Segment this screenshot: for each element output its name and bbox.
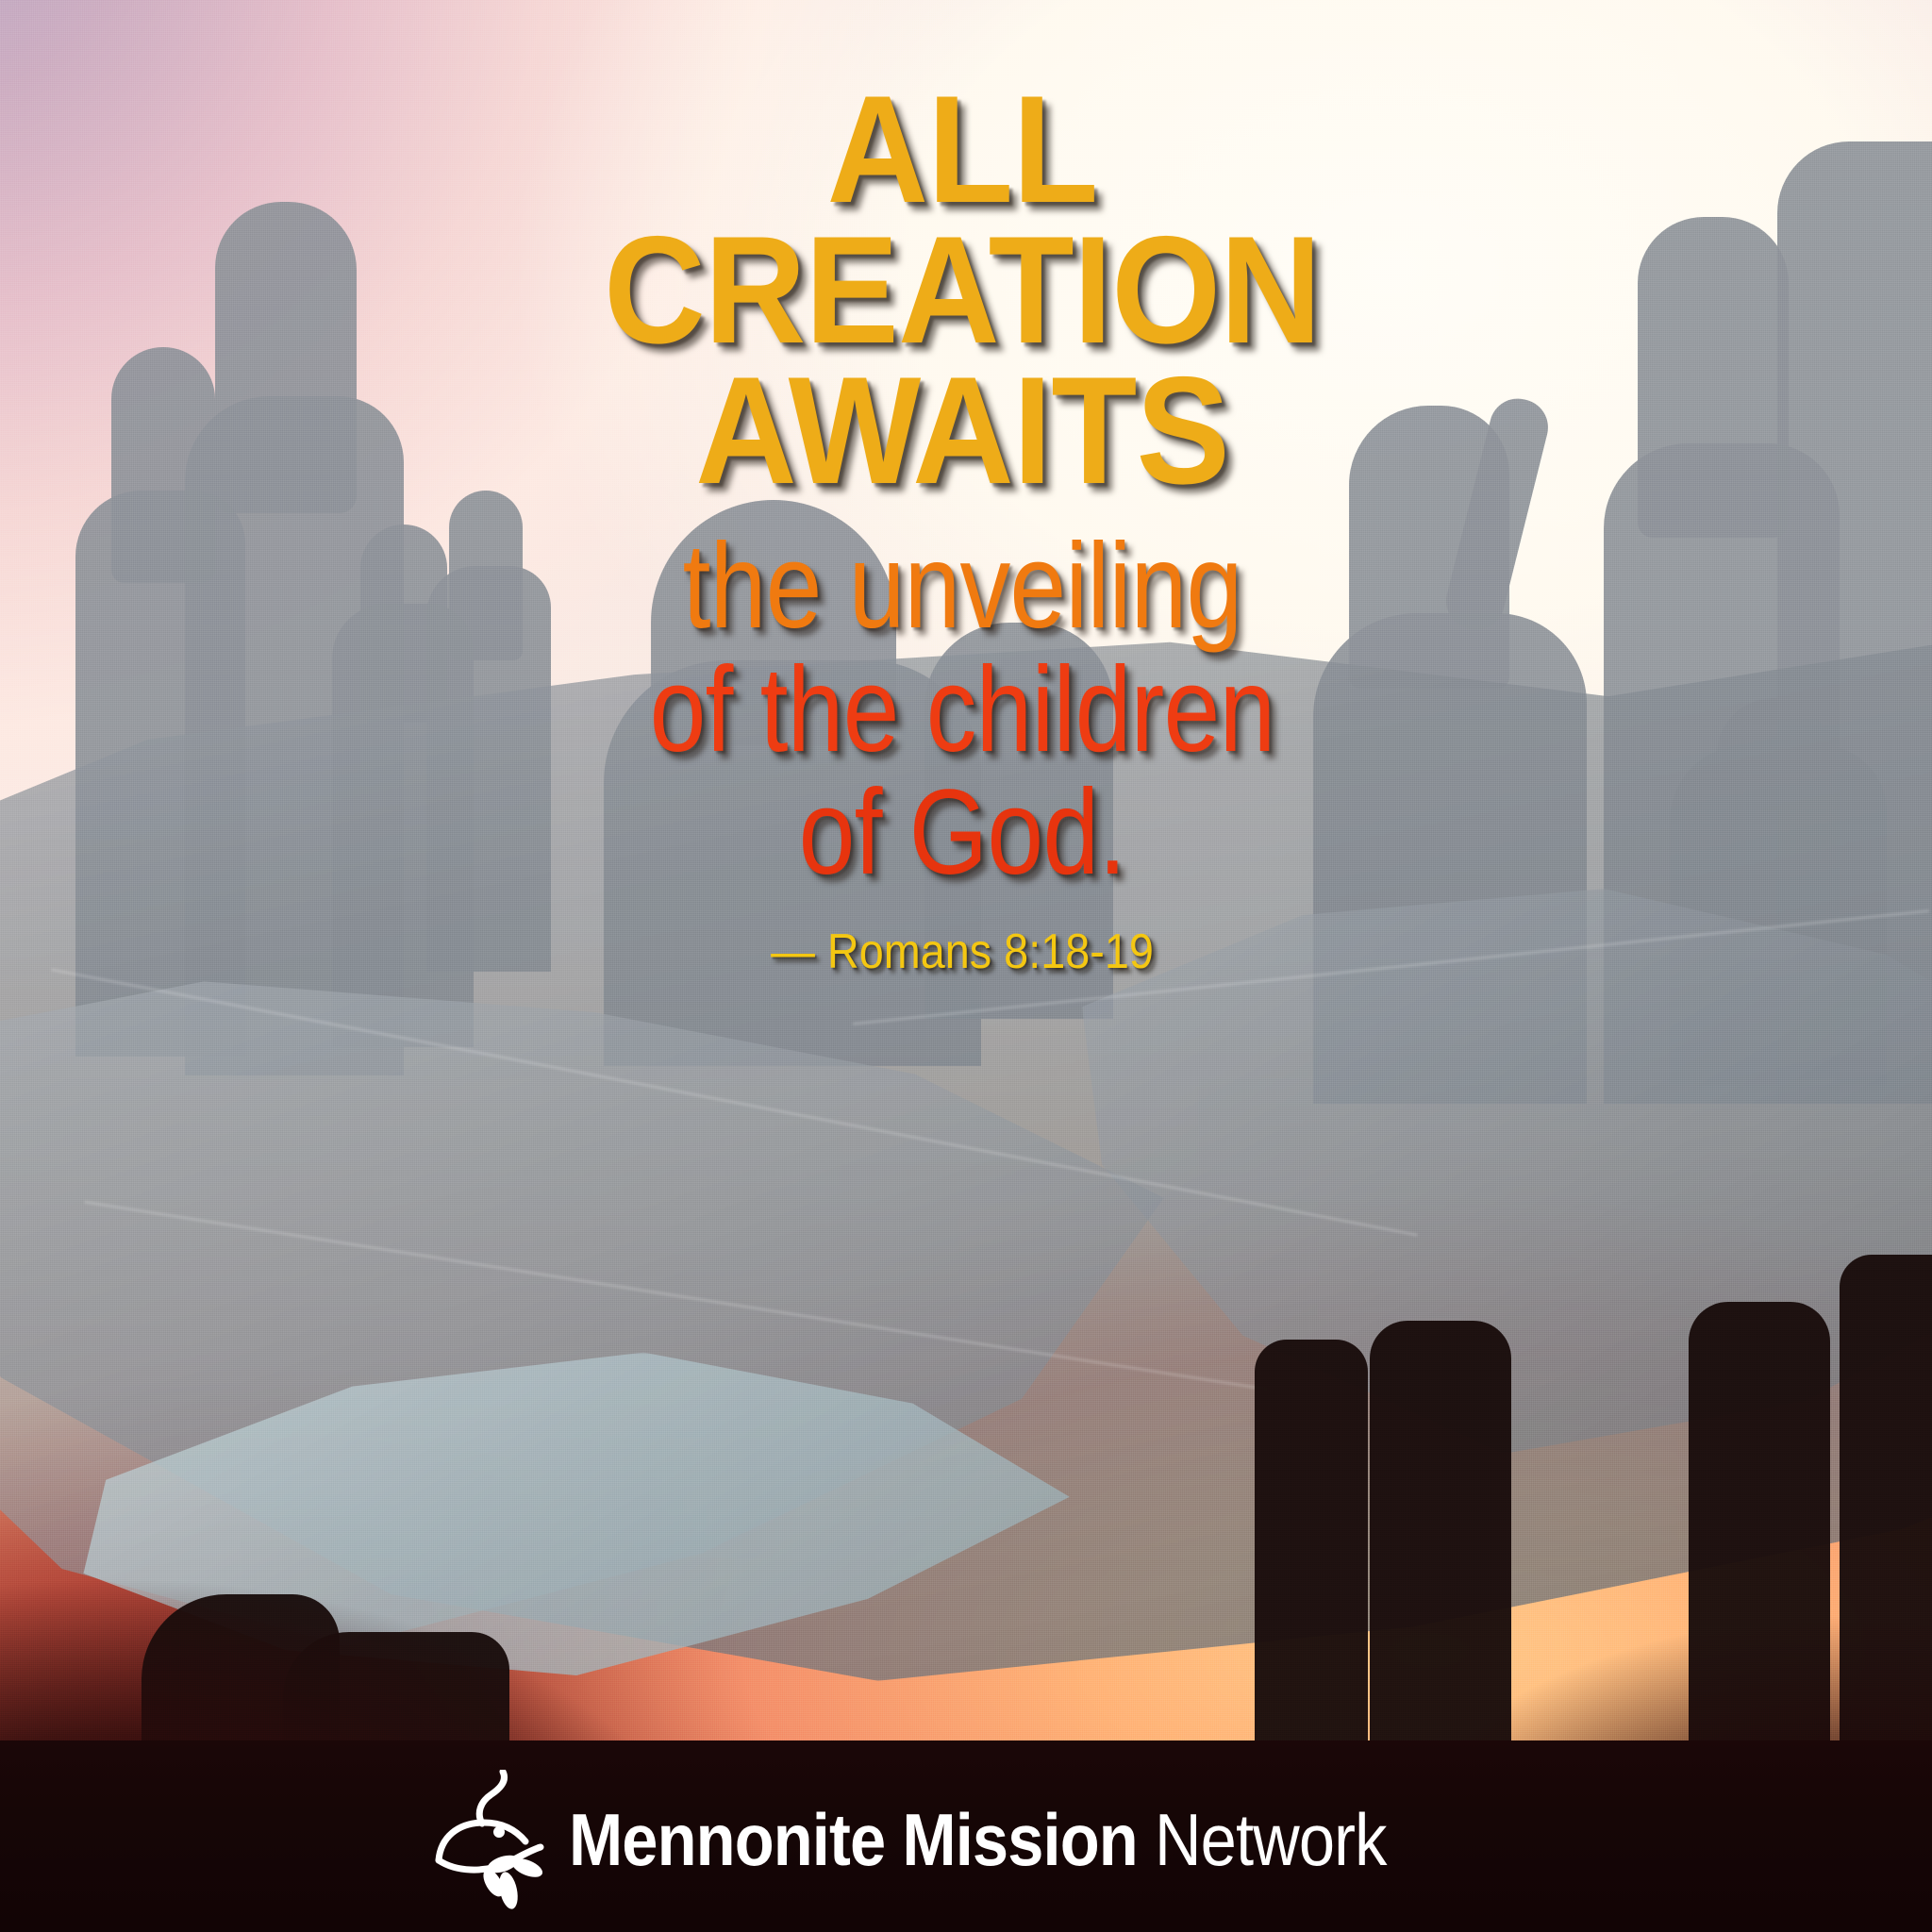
verse-text-block: ALL CREATION AWAITS the unveiling of the… bbox=[0, 79, 1932, 980]
footer-logo-lockup: Mennonite Mission Network bbox=[435, 1770, 1498, 1911]
subhead-line-1: the unveiling bbox=[154, 525, 1771, 649]
headline-line-1: ALL bbox=[77, 79, 1848, 220]
footer-brand-bar: Mennonite Mission Network bbox=[0, 1740, 1932, 1932]
poster-canvas: ALL CREATION AWAITS the unveiling of the… bbox=[0, 0, 1932, 1932]
dove-with-olive-branch-icon bbox=[435, 1770, 544, 1911]
subhead-line-2: of the children bbox=[154, 649, 1771, 773]
brand-name-light: Network bbox=[1137, 1798, 1386, 1881]
scripture-reference: — Romans 8:18-19 bbox=[96, 924, 1828, 980]
brand-wordmark: Mennonite Mission Network bbox=[569, 1797, 1387, 1883]
headline-line-3: AWAITS bbox=[77, 360, 1848, 501]
subhead-line-3: of God. bbox=[154, 772, 1771, 895]
brand-name-bold: Mennonite Mission bbox=[569, 1798, 1138, 1881]
headline-line-2: CREATION bbox=[77, 220, 1848, 360]
